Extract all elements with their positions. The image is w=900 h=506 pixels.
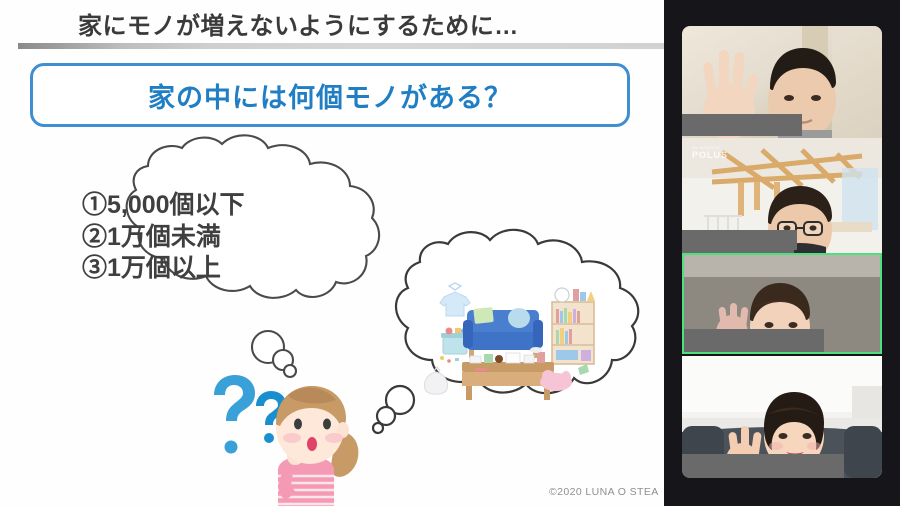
room-scene — [424, 283, 595, 400]
slide-area: 家にモノが増えないようにするために… 家の中には何個モノがある？ — [0, 0, 664, 506]
thought-option-3: ③1万個以上 — [82, 253, 245, 285]
headline-box-text: 家の中には何個モノがある？ — [148, 76, 512, 115]
toy-box-icon — [441, 328, 469, 355]
thinking-girl-character — [276, 386, 358, 506]
laundry-bag-icon — [424, 367, 447, 394]
title-divider-rule — [18, 43, 664, 49]
participant-tile-1[interactable] — [682, 26, 882, 138]
participant-tile-2[interactable]: AN INTERIOR POLUS — [682, 138, 882, 253]
hanging-shirt-icon — [440, 283, 470, 316]
participant-name-redaction-2 — [682, 230, 797, 250]
plush-toy-icon — [540, 370, 572, 391]
headline-box: 家の中には何個モノがある？ — [30, 63, 630, 127]
polus-watermark: AN INTERIOR POLUS — [692, 146, 728, 160]
sofa-icon — [463, 307, 543, 358]
room-thought-cloud — [373, 230, 638, 433]
question-mark-large — [214, 375, 255, 454]
participant-tile-3[interactable] — [682, 253, 882, 354]
question-mark-small — [256, 391, 286, 443]
thought-options-list: ①5,000個以下 ②1万個未満 ③1万個以上 — [82, 190, 245, 285]
participant-video-panel: AN INTERIOR POLUS — [664, 0, 900, 506]
copyright-notice: ©2020 LUNA O STEA — [549, 486, 659, 498]
participant-name-redaction-3 — [684, 329, 824, 352]
slide-title: 家にモノが増えないようにするために… — [78, 6, 519, 41]
thought-option-2: ②1万個未満 — [82, 222, 245, 254]
bookshelf-icon — [552, 288, 595, 364]
presentation-screen-share: 家にモノが増えないようにするために… 家の中には何個モノがある？ — [0, 0, 900, 506]
coffee-table-icon — [462, 352, 554, 400]
thought-option-1: ①5,000個以下 — [82, 190, 245, 222]
participant-name-redaction-4 — [682, 454, 844, 478]
participant-name-redaction-1 — [682, 114, 802, 136]
participant-tile-4[interactable] — [682, 356, 882, 478]
green-scrap — [578, 364, 589, 375]
question-marks — [214, 375, 286, 454]
